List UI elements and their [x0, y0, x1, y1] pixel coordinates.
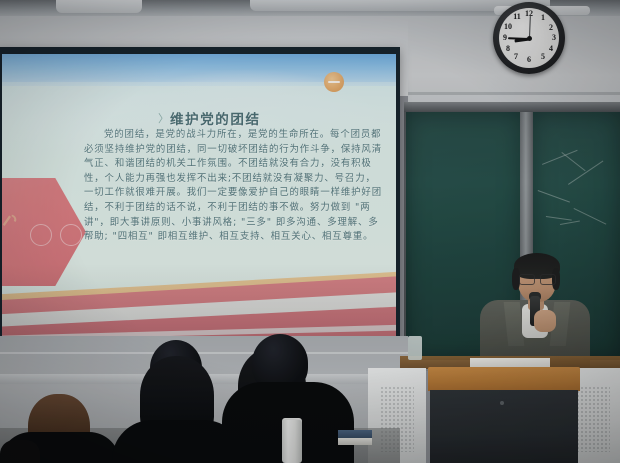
chalk-stroke-icon	[546, 216, 572, 221]
lower-wall-highlight	[0, 352, 408, 354]
slide-title: 维护党的团结	[170, 108, 370, 128]
slide-corner-logo-bar	[328, 81, 340, 83]
clock-numeral-2: 2	[544, 24, 558, 32]
screen-top-frame	[0, 47, 400, 54]
glasses-bridge	[533, 278, 540, 279]
ceiling-lamp-a-icon	[56, 0, 142, 13]
podium-body	[430, 390, 578, 463]
wall-clock: 12 1 2 3 4 5 6 7 8 9 10 11	[493, 2, 565, 74]
slide-ring-decor-2	[60, 224, 82, 246]
presentation-slide: 〉 维护党的团结 党的团结，是党的战斗力所在，是党的生命所在。每个团员都必须坚持…	[2, 52, 396, 338]
clock-center-pin	[527, 36, 532, 41]
chalkboard-top-rail	[404, 102, 620, 112]
clock-numeral-7: 7	[509, 53, 523, 61]
wall-seam	[408, 92, 620, 95]
thermos-bottle	[282, 420, 302, 463]
clock-numeral-6: 6	[522, 56, 536, 64]
slide-ring-decor-1	[30, 224, 52, 246]
clock-numeral-3: 3	[547, 34, 561, 42]
clock-numeral-1: 1	[536, 14, 550, 22]
slide-title-marker-icon: 〉	[158, 110, 169, 126]
eyeglasses-icon	[519, 274, 555, 283]
water-glass	[408, 336, 422, 360]
glasses-lens-right	[540, 274, 556, 285]
clock-numeral-4: 4	[544, 45, 558, 53]
chalk-stroke-icon	[568, 161, 603, 185]
chalk-stroke-icon	[560, 221, 580, 225]
lecture-hall-scene: 12 1 2 3 4 5 6 7 8 9 10 11	[0, 0, 620, 463]
glasses-lens-left	[519, 274, 535, 285]
slide-body-text: 党的团结，是党的战斗力所在，是党的生命所在。每个团员都必须坚持维护党的团结，同一…	[84, 128, 384, 245]
chalk-stroke-icon	[542, 150, 578, 166]
chalk-stroke-icon	[573, 208, 606, 225]
chalk-stroke-icon	[538, 190, 570, 203]
party-emblem-icon	[2, 210, 22, 232]
audience-member-5-head	[0, 440, 40, 463]
presenter-hand	[534, 310, 556, 332]
clock-numeral-11: 11	[510, 13, 524, 21]
clock-numeral-8: 8	[501, 45, 515, 53]
podium-top	[428, 367, 580, 391]
clock-face: 12 1 2 3 4 5 6 7 8 9 10 11	[499, 8, 559, 68]
notebook-pages	[338, 438, 372, 445]
clock-numeral-5: 5	[536, 53, 550, 61]
podium-knob-icon	[500, 401, 504, 405]
speaker-grill-right	[576, 386, 610, 452]
clock-numeral-10: 10	[501, 23, 515, 31]
chalk-stroke-icon	[561, 152, 585, 172]
